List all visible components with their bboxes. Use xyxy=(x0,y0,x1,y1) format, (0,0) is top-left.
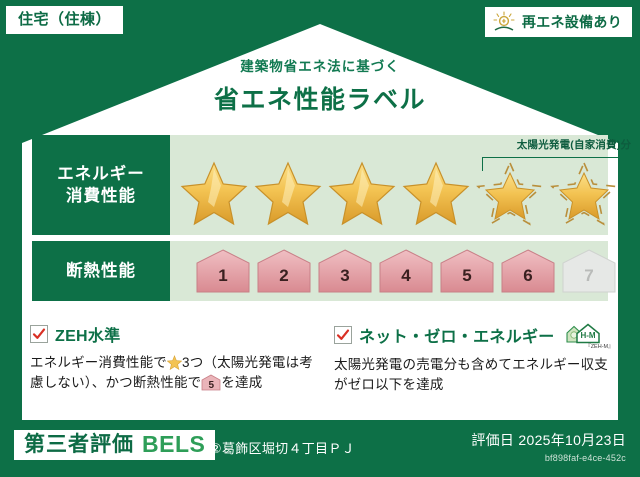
criteria-net-zero-text: 太陽光発電の売電分も含めてエネルギー収支がゼロ以下を達成 xyxy=(334,355,620,396)
energy-rating-area: 太陽光発電(自家消費)分 xyxy=(170,135,608,235)
property-address: ②葛飾区堀切４丁目ＰＪ xyxy=(210,438,355,457)
building-type-tag: 住宅（住棟） xyxy=(6,6,123,34)
label-title-block: 建築物省エネ法に基づく 省エネ性能ラベル xyxy=(0,55,640,116)
grade-badge-number: 5 xyxy=(201,378,221,393)
star-filled xyxy=(400,157,472,227)
criteria-zeh-header: ZEH水準 xyxy=(30,322,316,346)
title-subtitle: 建築物省エネ法に基づく xyxy=(0,55,640,75)
insulation-grade-badge: 3 xyxy=(316,247,374,295)
insulation-grade-badge-inactive: 7 xyxy=(560,247,618,295)
energy-label-line2: 消費性能 xyxy=(66,185,136,207)
grade-number: 3 xyxy=(316,266,374,286)
insulation-grade-badge: 2 xyxy=(255,247,313,295)
criteria-zeh-text: エネルギー消費性能で3つ（太陽光発電は考慮しない）、かつ断熱性能で5を達成 xyxy=(30,353,316,394)
svg-text:H-M: H-M xyxy=(580,331,595,340)
renewable-badge-label: 再エネ設備あり xyxy=(522,15,622,29)
insulation-rating-area: 1 2 3 4 5 xyxy=(170,241,608,301)
insulation-grade-badge: 4 xyxy=(377,247,435,295)
check-icon xyxy=(336,328,350,342)
title-main: 省エネ性能ラベル xyxy=(0,80,640,116)
performance-panel: エネルギー 消費性能 太陽光発電(自家消費)分 xyxy=(32,135,608,307)
bels-en-label: BELS xyxy=(142,433,205,456)
energy-label-card: 住宅（住棟） 再エネ設備あり 建築物省エネ法に基づく 省エネ性能ラベル エネルギ… xyxy=(0,0,640,477)
checkbox-net-zero[interactable] xyxy=(334,326,352,344)
star-rating xyxy=(178,157,602,227)
evaluation-date: 評価日 2025年10月23日 xyxy=(471,430,626,450)
star-icon xyxy=(167,355,182,370)
insulation-label-text: 断熱性能 xyxy=(66,260,136,282)
energy-label-line1: エネルギー xyxy=(57,163,145,185)
solar-self-consumption-note: 太陽光発電(自家消費)分 xyxy=(466,137,640,152)
zeh-logo-caption: 『ZEH-M』 xyxy=(585,342,613,350)
evaluation-id: bf898faf-e4ce-452c xyxy=(471,453,626,463)
renewable-energy-badge: 再エネ設備あり xyxy=(485,7,632,37)
star-filled xyxy=(252,157,324,227)
insulation-grade-badge: 6 xyxy=(499,247,557,295)
criteria-net-zero-header: ネット・ゼロ・エネルギー H-M 『ZEH-M』 xyxy=(334,322,620,348)
bels-jp-label: 第三者評価 xyxy=(24,434,134,455)
criteria-zeh-text-a: エネルギー消費性能で xyxy=(30,355,167,370)
star-filled xyxy=(326,157,398,227)
grade-number: 5 xyxy=(438,266,496,286)
star-solar-dashed xyxy=(474,157,546,227)
bels-badge: 第三者評価 BELS xyxy=(14,430,215,460)
sun-icon xyxy=(491,11,517,33)
grade-badge-icon: 5 xyxy=(201,374,221,391)
insulation-grade-badge: 5 xyxy=(438,247,496,295)
criteria-net-zero-title: ネット・ゼロ・エネルギー xyxy=(359,323,555,347)
insulation-performance-label: 断熱性能 xyxy=(32,241,170,301)
footer-bar: 第三者評価 BELS ②葛飾区堀切４丁目ＰＪ 評価日 2025年10月23日 b… xyxy=(0,422,640,477)
grade-number: 4 xyxy=(377,266,435,286)
grade-number: 1 xyxy=(194,266,252,286)
insulation-grade-list: 1 2 3 4 5 xyxy=(194,247,618,295)
criteria-net-zero: ネット・ゼロ・エネルギー H-M 『ZEH-M』 太陽光発電の売電分も含めてエネ… xyxy=(334,322,620,396)
energy-performance-label: エネルギー 消費性能 xyxy=(32,135,170,235)
criteria-zeh-title: ZEH水準 xyxy=(55,322,121,346)
insulation-grade-badge: 1 xyxy=(194,247,252,295)
insulation-performance-row: 断熱性能 1 2 3 xyxy=(32,241,608,301)
star-filled xyxy=(178,157,250,227)
checkbox-zeh[interactable] xyxy=(30,325,48,343)
grade-number: 2 xyxy=(255,266,313,286)
grade-number: 6 xyxy=(499,266,557,286)
criteria-zeh: ZEH水準 エネルギー消費性能で3つ（太陽光発電は考慮しない）、かつ断熱性能で5… xyxy=(30,322,316,396)
check-icon xyxy=(32,327,46,341)
criteria-section: ZEH水準 エネルギー消費性能で3つ（太陽光発電は考慮しない）、かつ断熱性能で5… xyxy=(30,322,620,396)
zeh-house-icon: H-M xyxy=(563,322,613,344)
grade-number: 7 xyxy=(560,266,618,286)
star-solar-dashed xyxy=(548,157,620,227)
evaluation-info: 評価日 2025年10月23日 bf898faf-e4ce-452c xyxy=(471,430,626,463)
energy-performance-row: エネルギー 消費性能 太陽光発電(自家消費)分 xyxy=(32,135,608,235)
zeh-m-logo: H-M 『ZEH-M』 xyxy=(563,322,613,348)
criteria-zeh-text-c: を達成 xyxy=(221,375,262,390)
